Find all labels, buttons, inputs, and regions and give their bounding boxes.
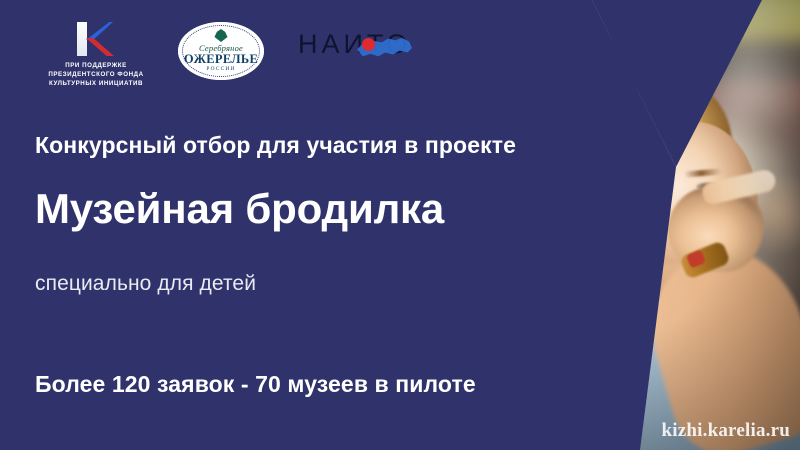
logo-presidential-fund: ПРИ ПОДДЕРЖКЕ ПРЕЗИДЕНТСКОГО ФОНДА КУЛЬТ… xyxy=(48,22,144,88)
page-title: Музейная бродилка xyxy=(35,185,444,233)
logo-naito: НАИТО xyxy=(298,22,410,74)
necklace-line-2: ОЖЕРЕЛЬЕ xyxy=(178,52,264,67)
fund-k-upper-arm xyxy=(86,22,113,40)
naito-red-dot-icon xyxy=(362,38,375,51)
fund-line-3: КУЛЬТУРНЫХ ИНИЦИАТИВ xyxy=(48,79,144,88)
site-watermark: kizhi.karelia.ru xyxy=(662,420,790,442)
necklace-line-3: РОССИИ xyxy=(178,66,264,72)
partner-logos: ПРИ ПОДДЕРЖКЕ ПРЕЗИДЕНТСКОГО ФОНДА КУЛЬТ… xyxy=(48,22,410,88)
subtitle-text: специально для детей xyxy=(35,272,256,296)
fund-k-lower-arm xyxy=(86,38,114,56)
fund-k-icon xyxy=(77,22,115,56)
stats-text: Более 120 заявок - 70 музеев в пилоте xyxy=(35,371,476,398)
logo-silver-necklace: Серебряное ОЖЕРЕЛЬЕ РОССИИ xyxy=(178,22,264,80)
eyebrow-text: Конкурсный отбор для участия в проекте xyxy=(35,132,516,159)
fund-line-2: ПРЕЗИДЕНТСКОГО ФОНДА xyxy=(48,70,144,79)
fund-k-stem xyxy=(77,22,87,56)
promo-banner: ПРИ ПОДДЕРЖКЕ ПРЕЗИДЕНТСКОГО ФОНДА КУЛЬТ… xyxy=(0,0,800,450)
fund-line-1: ПРИ ПОДДЕРЖКЕ xyxy=(48,61,144,70)
